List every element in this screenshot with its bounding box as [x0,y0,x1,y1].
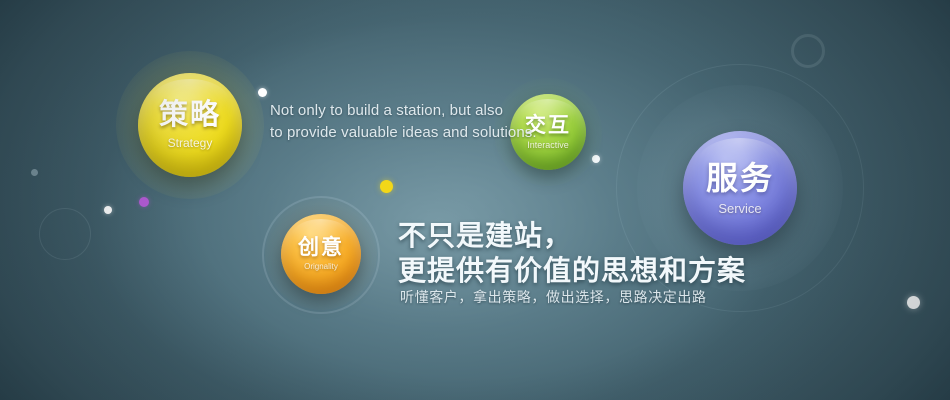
sphere-strategy-en-label: Strategy [168,137,213,149]
sphere-strategy[interactable]: 策略 Strategy [138,73,242,177]
sphere-originality-cn-label: 创意 [298,237,344,258]
ring-lower-left [39,208,91,260]
headline: 不只是建站， 更提供有价值的思想和方案 [398,218,746,289]
english-tagline: Not only to build a station, but also to… [270,100,537,144]
dot-white-mid [592,155,600,163]
sphere-originality-en-label: Orignality [304,263,338,271]
sphere-originality[interactable]: 创意 Orignality [281,214,361,294]
sphere-service-cn-label: 服务 [706,162,774,194]
sphere-strategy-cn-label: 策略 [159,101,221,130]
dot-yellow [380,180,393,193]
subheadline: 听懂客户，拿出策略，做出选择，思路决定出路 [400,287,707,307]
sphere-service-en-label: Service [718,202,761,215]
dot-faint-left [31,169,38,176]
dot-white-right [907,296,920,309]
dot-white-top [258,88,267,97]
dot-purple [139,197,149,207]
ring-upper-right [791,34,825,68]
promo-banner: 策略 Strategy 交互 Interactive 创意 Orignality… [0,0,950,400]
dot-white-left [104,206,112,214]
